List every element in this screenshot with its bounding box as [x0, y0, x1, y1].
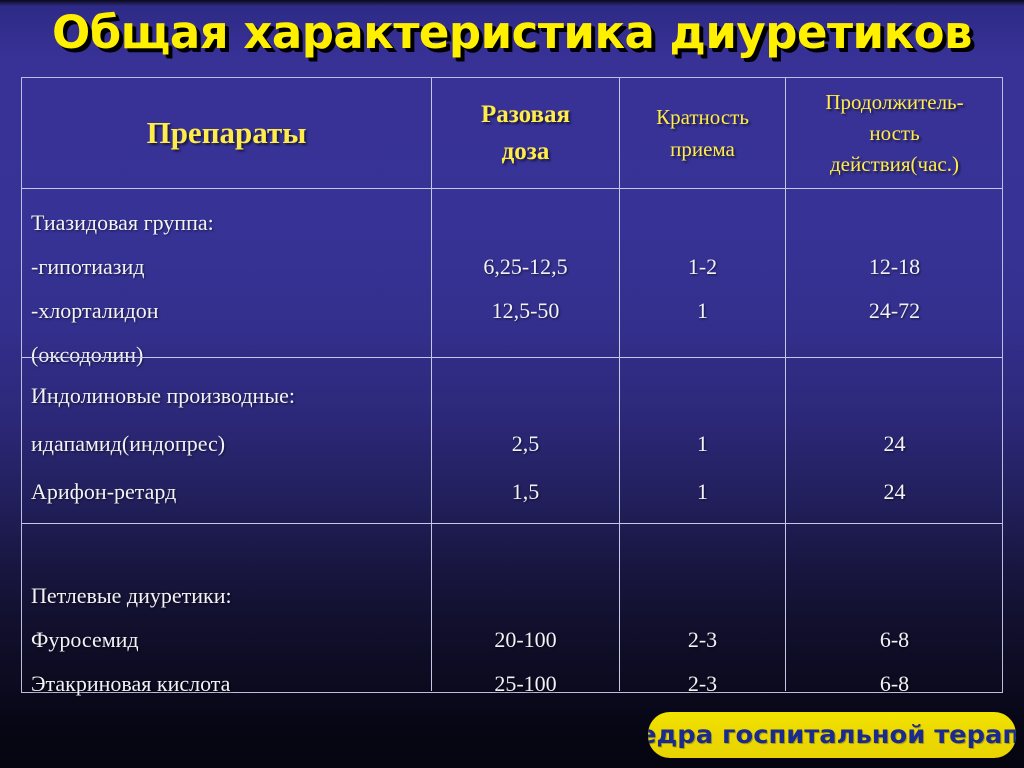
- column-header-duration-line-2: ность: [825, 118, 963, 149]
- group-1-drug-names: Тиазидовая группа: -гипотиазид -хлортали…: [22, 201, 431, 377]
- diuretics-table: Препараты Разовая доза Кратность приема …: [21, 77, 1003, 693]
- column-header-frequency-line-2: приема: [656, 133, 749, 165]
- group-3-duration-2: 6-8: [786, 662, 1003, 706]
- department-badge-label: кафедра госпитальной терапии-2: [648, 722, 1016, 748]
- group-3-dose-2: 25-100: [432, 662, 619, 706]
- group-1-frequency-1: 1-2: [620, 245, 785, 289]
- column-header-duration: Продолжитель- ность действия(час.): [786, 78, 1003, 188]
- group-2-dose-1: 2,5: [432, 420, 619, 468]
- group-3-duration-1: 6-8: [786, 618, 1003, 662]
- group-3-drug-names: Петлевые диуретики: Фуросемид Этакринова…: [22, 574, 431, 706]
- column-header-duration-line-3: действия(час.): [825, 149, 963, 180]
- column-header-dose-line-2: доза: [481, 133, 570, 170]
- group-1-duration-values: 12-18 24-72: [786, 245, 1003, 333]
- column-header-dose: Разовая доза: [432, 78, 619, 188]
- department-badge: кафедра госпитальной терапии-2: [648, 712, 1016, 758]
- group-1-frequency-values: 1-2 1: [620, 245, 785, 333]
- group-3-frequency-values: 2-3 2-3: [620, 618, 785, 706]
- column-header-frequency: Кратность приема: [620, 78, 785, 188]
- group-2-frequency-values: 1 1: [620, 420, 785, 516]
- group-1-drug-2: -хлорталидон: [31, 289, 431, 333]
- group-3-dose-values: 20-100 25-100: [432, 618, 619, 706]
- group-2-title: Индолиновые производные:: [31, 372, 431, 420]
- table-header-row: Препараты Разовая доза Кратность приема …: [22, 78, 1002, 188]
- column-header-duration-line-1: Продолжитель-: [825, 87, 963, 118]
- group-3-duration-values: 6-8 6-8: [786, 618, 1003, 706]
- group-2-dose-values: 2,5 1,5: [432, 420, 619, 516]
- group-2-duration-values: 24 24: [786, 420, 1003, 516]
- group-2-drug-names: Индолиновые производные: идапамид(индопр…: [22, 372, 431, 516]
- group-3-dose-1: 20-100: [432, 618, 619, 662]
- group-2-duration-1: 24: [786, 420, 1003, 468]
- group-1-duration-1: 12-18: [786, 245, 1003, 289]
- group-2-duration-2: 24: [786, 468, 1003, 516]
- table-row: Тиазидовая группа: -гипотиазид -хлортали…: [22, 188, 1002, 357]
- group-1-drug-1: -гипотиазид: [31, 245, 431, 289]
- group-2-frequency-2: 1: [620, 468, 785, 516]
- group-3-drug-2: Этакриновая кислота: [31, 662, 431, 706]
- group-2-frequency-1: 1: [620, 420, 785, 468]
- table-row: Петлевые диуретики: Фуросемид Этакринова…: [22, 523, 1002, 691]
- group-1-dose-values: 6,25-12,5 12,5-50: [432, 245, 619, 333]
- column-header-frequency-line-1: Кратность: [656, 101, 749, 133]
- slide-canvas: Общая характеристика диуретиков Препарат…: [0, 0, 1024, 768]
- group-2-dose-2: 1,5: [432, 468, 619, 516]
- group-1-dose-1: 6,25-12,5: [432, 245, 619, 289]
- group-2-drug-2: Арифон-ретард: [31, 468, 431, 516]
- group-1-dose-2: 12,5-50: [432, 289, 619, 333]
- group-1-duration-2: 24-72: [786, 289, 1003, 333]
- page-title: Общая характеристика диуретиков: [0, 2, 1024, 64]
- column-header-drugs-label: Препараты: [147, 115, 307, 151]
- group-3-frequency-1: 2-3: [620, 618, 785, 662]
- column-header-dose-line-1: Разовая: [481, 96, 570, 133]
- column-header-drugs: Препараты: [22, 78, 431, 188]
- group-3-drug-1: Фуросемид: [31, 618, 431, 662]
- group-2-drug-1: идапамид(индопрес): [31, 420, 431, 468]
- group-1-frequency-2: 1: [620, 289, 785, 333]
- table-row: Индолиновые производные: идапамид(индопр…: [22, 357, 1002, 523]
- group-3-frequency-2: 2-3: [620, 662, 785, 706]
- group-3-title: Петлевые диуретики:: [31, 574, 431, 618]
- group-1-title: Тиазидовая группа:: [31, 201, 431, 245]
